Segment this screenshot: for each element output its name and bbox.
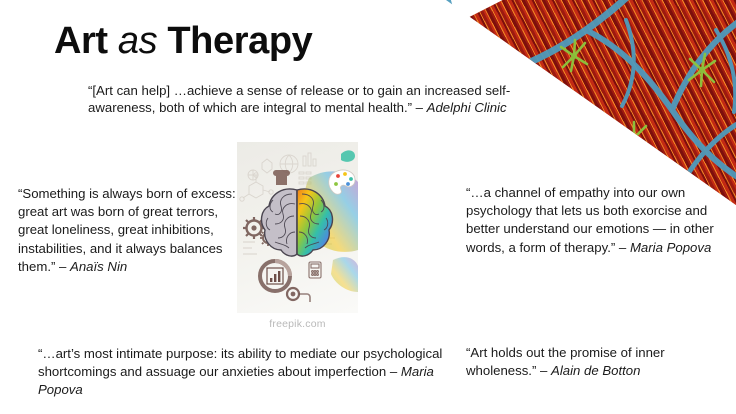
brain-illustration-canvas [237,142,358,313]
creative-brain-graphic [237,142,358,313]
slide-title: Art as Therapy [54,20,312,63]
quote-bottom-left: “…art’s most intimate purpose: its abili… [38,345,458,400]
quote-left: “Something is always born of excess: gre… [18,185,240,276]
image-attribution-caption: freepik.com [237,318,358,330]
presentation-slide: Art as Therapy “[Art can help] …achieve … [0,0,736,414]
title-emphasis: as [118,20,157,62]
quote-top-source: Adelphi Clinic [427,100,507,115]
title-part-2: Therapy [157,20,312,62]
quote-top: “[Art can help] …achieve a sense of rele… [88,82,540,116]
quote-left-source: Anaïs Nin [70,259,127,274]
quote-right-source: Maria Popova [630,240,711,255]
brain-illustration-image [237,142,358,313]
quote-right: “…a channel of empathy into our own psyc… [466,184,726,257]
quote-bottom-right: “Art holds out the promise of inner whol… [466,344,726,380]
title-part-1: Art [54,20,118,62]
quote-bottom-right-source: Alain de Botton [551,363,640,378]
quote-bottom-left-text: “…art’s most intimate purpose: its abili… [38,346,442,379]
